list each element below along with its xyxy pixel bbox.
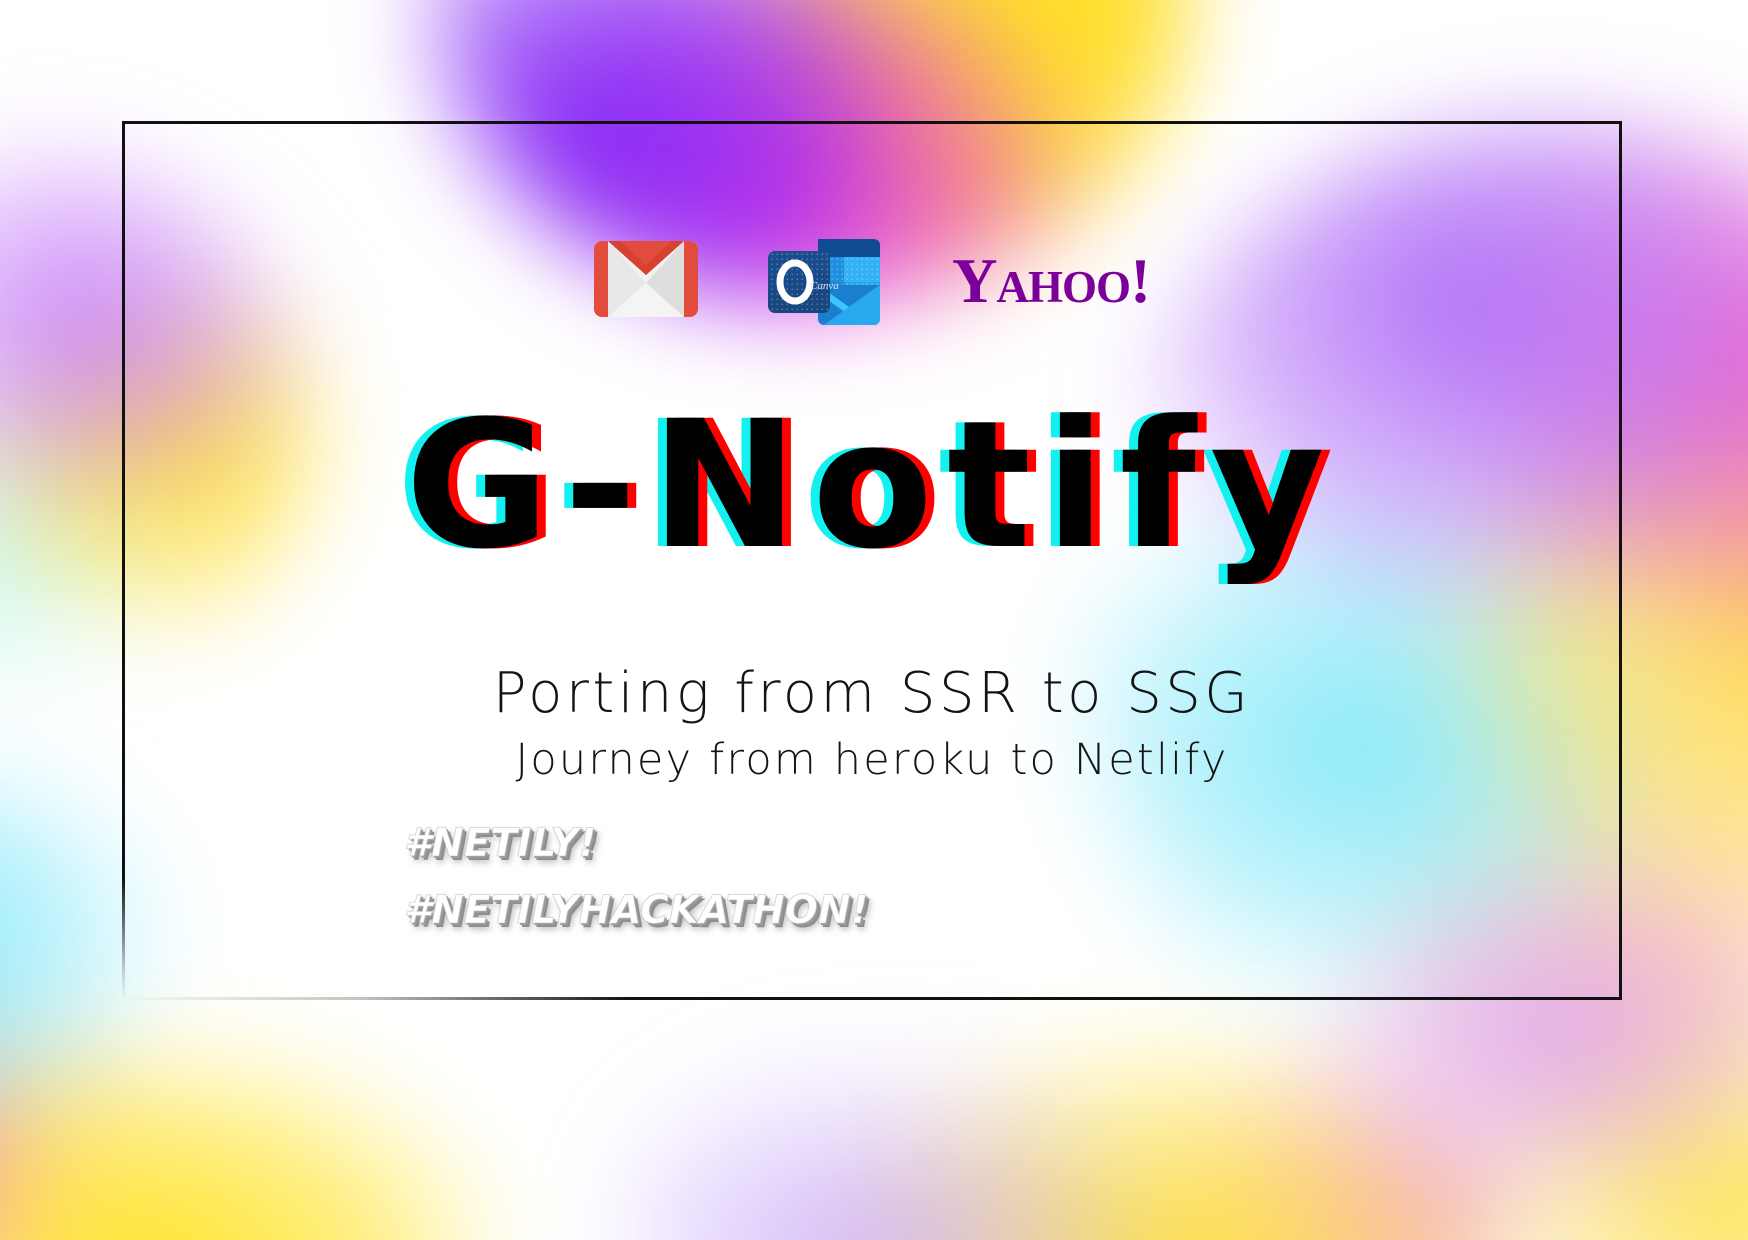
email-provider-logo-row: Canva YAHOO! <box>122 233 1622 330</box>
yahoo-wordmark: YAHOO! <box>952 250 1150 313</box>
title-layer-base: G-Notify <box>405 383 1338 588</box>
outlook-logo: Canva <box>766 233 884 330</box>
gmail-logo <box>594 237 698 326</box>
main-title-glitch: G-Notify G-Notify G-Notify <box>405 393 1338 580</box>
gradient-blob-bottom <box>620 1000 1520 1240</box>
hashtag-sticker-netilyhackathon: #NETILYHACKATHON! <box>404 888 868 933</box>
hashtag-sticker-group: #NETILY! #NETILYHACKATHON! <box>404 821 868 933</box>
yahoo-exclamation: ! <box>1130 246 1150 316</box>
subtitle-secondary: Journey from heroku to Netlify <box>122 735 1622 785</box>
page-title: G-Notify G-Notify G-Notify <box>122 393 1622 580</box>
yahoo-letter-a: A <box>996 262 1028 312</box>
yahoo-letter-o1: O <box>1062 262 1096 312</box>
yahoo-letter-o2: O <box>1096 262 1130 312</box>
slide-content: Canva YAHOO! G-Notify G-Notify G-Notify … <box>122 121 1622 1000</box>
svg-text:Canva: Canva <box>810 280 839 292</box>
hashtag-sticker-netily: #NETILY! <box>404 821 868 866</box>
yahoo-letter-h: H <box>1028 262 1062 312</box>
presentation-slide: Canva YAHOO! G-Notify G-Notify G-Notify … <box>0 0 1748 1240</box>
yahoo-logo: YAHOO! <box>952 250 1150 313</box>
subtitle-primary: Porting from SSR to SSG <box>122 661 1622 726</box>
yahoo-letter-y: Y <box>952 246 997 316</box>
